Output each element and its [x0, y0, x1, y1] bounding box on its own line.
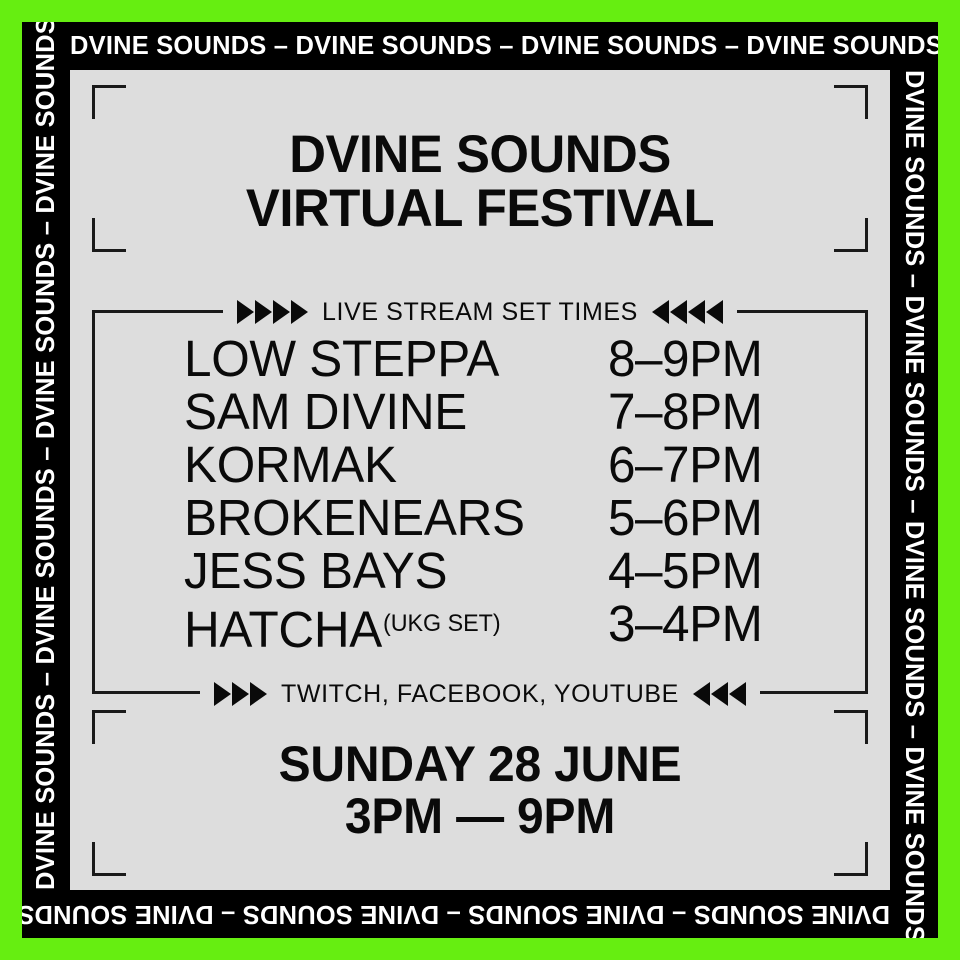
- corner-bracket-top-left-icon: [92, 85, 126, 119]
- artist-name: SAM DIVINE: [184, 385, 467, 438]
- list-item: JESS BAYS 4–5PM: [70, 544, 890, 597]
- platforms-label: TWITCH, FACEBOOK, YOUTUBE: [281, 680, 679, 709]
- event-hours: 3PM — 9PM: [86, 790, 873, 842]
- triangle-right-icon: [232, 682, 249, 706]
- setlist-header-label: LIVE STREAM SET TIMES: [322, 298, 638, 327]
- setlist-header-row: LIVE STREAM SET TIMES: [70, 292, 890, 332]
- setlist-footer-row: TWITCH, FACEBOOK, YOUTUBE: [70, 674, 890, 714]
- artist-name: HATCHA(UKG SET): [184, 597, 501, 656]
- list-item: HATCHA(UKG SET) 3–4PM: [70, 597, 890, 650]
- poster-canvas: DVINE SOUNDS – DVINE SOUNDS – DVINE SOUN…: [0, 0, 960, 960]
- triangle-left-icon: [670, 300, 687, 324]
- artist-name: JESS BAYS: [184, 544, 447, 597]
- marquee-right-text: DVINE SOUNDS – DVINE SOUNDS – DVINE SOUN…: [890, 22, 938, 938]
- title-line-2: VIRTUAL FESTIVAL: [86, 182, 873, 236]
- artist-name: KORMAK: [184, 438, 397, 491]
- arrows-right-group-header: [237, 300, 308, 324]
- marquee-top: DVINE SOUNDS – DVINE SOUNDS – DVINE SOUN…: [22, 22, 938, 70]
- artist-name: LOW STEPPA: [184, 332, 499, 385]
- marquee-frame: DVINE SOUNDS – DVINE SOUNDS – DVINE SOUN…: [22, 22, 938, 938]
- triangle-right-icon: [214, 682, 231, 706]
- triangle-right-icon: [291, 300, 308, 324]
- set-time: 8–9PM: [608, 332, 762, 385]
- arrows-left-group-footer: [693, 682, 746, 706]
- event-date-block: SUNDAY 28 JUNE 3PM — 9PM: [70, 738, 890, 842]
- triangle-left-icon: [729, 682, 746, 706]
- content-panel: DVINE SOUNDS VIRTUAL FESTIVAL LIVE STREA…: [70, 70, 890, 890]
- triangle-right-icon: [250, 682, 267, 706]
- arrows-right-group-footer: [214, 682, 267, 706]
- marquee-left: DVINE SOUNDS – DVINE SOUNDS – DVINE SOUN…: [22, 22, 70, 938]
- list-item: KORMAK 6–7PM: [70, 438, 890, 491]
- corner-bracket-top-right-icon: [834, 85, 868, 119]
- list-item: LOW STEPPA 8–9PM: [70, 332, 890, 385]
- triangle-left-icon: [688, 300, 705, 324]
- set-time: 6–7PM: [608, 438, 762, 491]
- triangle-right-icon: [237, 300, 254, 324]
- arrows-left-group-header: [652, 300, 723, 324]
- marquee-bottom: DVINE SOUNDS – DVINE SOUNDS – DVINE SOUN…: [22, 890, 938, 938]
- artist-name-note: (UKG SET): [383, 610, 501, 637]
- title-line-1: DVINE SOUNDS: [86, 128, 873, 182]
- set-time: 4–5PM: [608, 544, 762, 597]
- marquee-left-text: DVINE SOUNDS – DVINE SOUNDS – DVINE SOUN…: [22, 22, 70, 938]
- set-time: 3–4PM: [608, 597, 762, 650]
- artist-name-text: HATCHA: [184, 601, 382, 658]
- marquee-right: DVINE SOUNDS – DVINE SOUNDS – DVINE SOUN…: [890, 22, 938, 938]
- triangle-right-icon: [273, 300, 290, 324]
- triangle-left-icon: [693, 682, 710, 706]
- page-title: DVINE SOUNDS VIRTUAL FESTIVAL: [70, 128, 890, 236]
- lineup-list: LOW STEPPA 8–9PM SAM DIVINE 7–8PM KORMAK…: [70, 332, 890, 650]
- corner-bracket-bottom-left-icon: [92, 842, 126, 876]
- list-item: SAM DIVINE 7–8PM: [70, 385, 890, 438]
- set-time: 7–8PM: [608, 385, 762, 438]
- list-item: BROKENEARS 5–6PM: [70, 491, 890, 544]
- triangle-right-icon: [255, 300, 272, 324]
- triangle-left-icon: [652, 300, 669, 324]
- artist-name: BROKENEARS: [184, 491, 525, 544]
- set-time: 5–6PM: [608, 491, 762, 544]
- triangle-left-icon: [706, 300, 723, 324]
- event-date: SUNDAY 28 JUNE: [86, 738, 873, 790]
- triangle-left-icon: [711, 682, 728, 706]
- corner-bracket-bottom-right-icon: [834, 842, 868, 876]
